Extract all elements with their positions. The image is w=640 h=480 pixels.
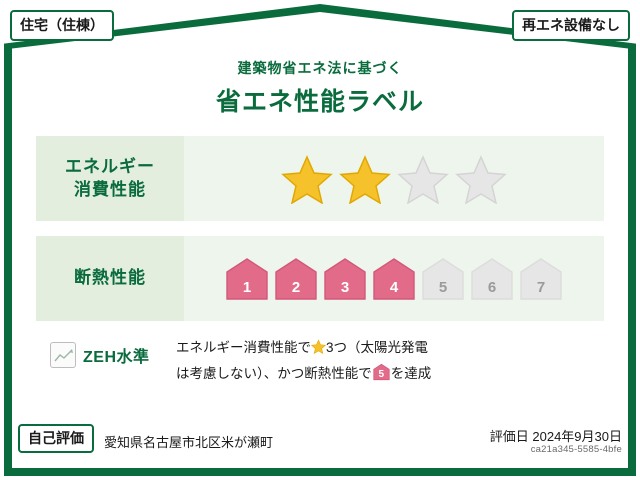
- insulation-level-chip-3: 3: [323, 256, 367, 302]
- zeh-note-line2-a: は考慮しない）、かつ断熱性能で: [176, 366, 372, 381]
- star-icon-filled-1: [281, 154, 333, 204]
- insulation-level-chip-4: 4: [372, 256, 416, 302]
- insulation-performance-row: 断熱性能 1 2 3 4: [36, 236, 604, 321]
- building-type-tag: 住宅（住棟）: [10, 10, 114, 41]
- energy-performance-label-line1: エネルギー: [65, 156, 155, 179]
- label-title: 省エネ性能ラベル: [0, 82, 640, 118]
- insulation-level-chip-3-label: 3: [323, 280, 367, 295]
- insulation-level-chip-4-label: 4: [372, 280, 416, 295]
- zeh-mark-icon: [50, 342, 76, 368]
- insulation-level-chip-6-label: 6: [470, 280, 514, 295]
- zeh-mark-group: ZEH水準: [36, 332, 176, 368]
- insulation-level-chip-5-label: 5: [421, 280, 465, 295]
- insulation-level-chip-5: 5: [421, 256, 465, 302]
- energy-performance-label-text: エネルギー 消費性能: [36, 136, 184, 221]
- insulation-level-chip-2-label: 2: [274, 280, 318, 295]
- insulation-performance-label-text: 断熱性能: [36, 236, 184, 321]
- energy-performance-label: 住宅（住棟） 再エネ設備なし 建築物省エネ法に基づく 省エネ性能ラベル エネルギ…: [0, 0, 640, 480]
- insulation-chip-icon-inline-label: 5: [373, 370, 390, 380]
- energy-performance-stars: [184, 136, 604, 221]
- zeh-note-line1-b: 3つ（太陽光発電: [326, 340, 428, 355]
- insulation-level-chips: 1 2 3 4 5: [225, 256, 563, 302]
- star-icon-inline: [311, 338, 326, 362]
- evaluation-date: 評価日 2024年9月30日: [490, 426, 622, 445]
- zeh-note-line1-a: エネルギー消費性能で: [176, 340, 311, 355]
- energy-performance-row: エネルギー 消費性能: [36, 136, 604, 221]
- insulation-performance-levels: 1 2 3 4 5: [184, 236, 604, 321]
- star-icon-empty-4: [455, 154, 507, 204]
- insulation-level-chip-7-label: 7: [519, 280, 563, 295]
- energy-performance-label-line2: 消費性能: [74, 179, 146, 202]
- insulation-level-chip-7: 7: [519, 256, 563, 302]
- insulation-level-chip-1-label: 1: [225, 280, 269, 295]
- label-subtitle: 建築物省エネ法に基づく: [0, 58, 640, 78]
- insulation-performance-label: 断熱性能: [74, 267, 146, 290]
- zeh-note-text: エネルギー消費性能で3つ（太陽光発電 は考慮しない）、かつ断熱性能で5を達成: [176, 332, 604, 385]
- zeh-note-line2-b: を達成: [391, 366, 432, 381]
- zeh-label: ZEH水準: [83, 343, 150, 367]
- renewable-equipment-tag: 再エネ設備なし: [512, 10, 630, 41]
- insulation-level-chip-2: 2: [274, 256, 318, 302]
- label-footer: 自己評価 愛知県名古屋市北区米が瀬町 評価日 2024年9月30日 ca21a3…: [18, 424, 622, 458]
- zeh-note-section: ZEH水準 エネルギー消費性能で3つ（太陽光発電 は考慮しない）、かつ断熱性能で…: [36, 332, 604, 385]
- insulation-level-chip-6: 6: [470, 256, 514, 302]
- insulation-chip-icon-inline: 5: [373, 363, 390, 381]
- self-evaluation-badge: 自己評価: [18, 424, 94, 453]
- property-address: 愛知県名古屋市北区米が瀬町: [104, 432, 273, 451]
- star-icon-filled-2: [339, 154, 391, 204]
- insulation-level-chip-1: 1: [225, 256, 269, 302]
- star-icon-empty-3: [397, 154, 449, 204]
- evaluation-id: ca21a345-5585-4bfe: [531, 444, 622, 455]
